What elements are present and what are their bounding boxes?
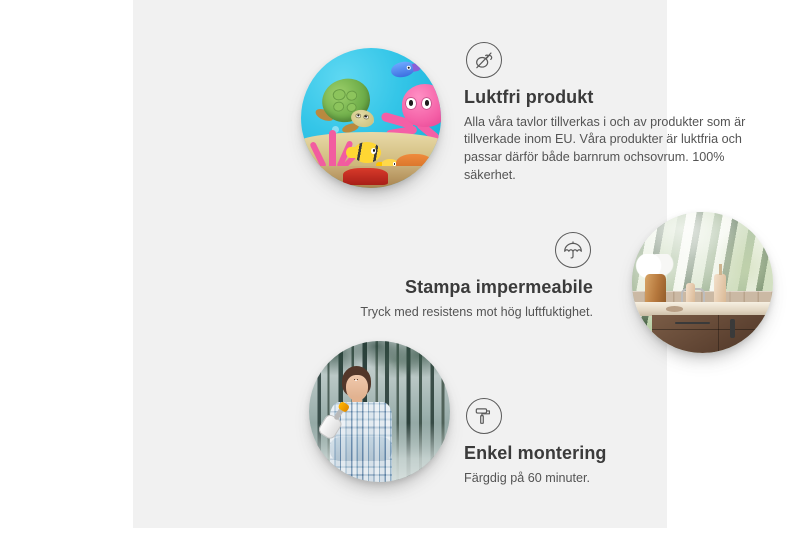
red-foreground-shape [343, 168, 388, 185]
fish-eye [406, 65, 411, 70]
icon-row [329, 232, 591, 268]
screenshot-canvas: Luktfri produkt Alla våra tavlor tillver… [0, 0, 800, 533]
striped-yellow-fish [353, 142, 381, 163]
octopus-head [402, 84, 441, 126]
feature-body: Tryck med resistens mot hög luftfuktighe… [329, 304, 593, 322]
fish-tail [346, 147, 356, 158]
feature-body: Färgdig på 60 minuter. [464, 470, 714, 488]
content-panel: Luktfri produkt Alla våra tavlor tillver… [133, 0, 667, 528]
eye [357, 379, 358, 380]
forest-scene [309, 341, 450, 482]
feature-body: Alla våra tavlor tillverkas i och av pro… [464, 114, 754, 186]
woman-figure [323, 366, 396, 482]
fish-eye [371, 148, 376, 153]
feature-waterproof: Stampa impermeabile Tryck med resistens … [329, 232, 593, 321]
fish-body [353, 142, 381, 163]
no-odor-icon [466, 42, 502, 78]
turtle-eye [355, 113, 362, 119]
underwater-scene [301, 48, 441, 188]
vanity-cabinet [652, 315, 773, 353]
bathroom-wallpaper-photo [632, 212, 773, 353]
bottle [714, 274, 727, 305]
paint-roller-icon [466, 398, 502, 434]
bathroom-scene [632, 212, 773, 353]
feature-assembly: Enkel montering Färgdig på 60 minuter. [464, 398, 714, 487]
feature-odorless: Luktfri produkt Alla våra tavlor tillver… [464, 42, 754, 185]
feature-title: Enkel montering [464, 443, 714, 465]
woman-paint-roller-photo [309, 341, 450, 482]
soap-dish [666, 306, 683, 312]
octopus-eye [421, 97, 432, 110]
turtle-eye [363, 114, 370, 120]
octopus-eye [405, 97, 416, 110]
umbrella-icon [555, 232, 591, 268]
feature-title: Stampa impermeabile [329, 277, 593, 299]
underwater-cartoon-photo [301, 48, 441, 188]
feature-title: Luktfri produkt [464, 87, 754, 109]
smile [355, 380, 357, 381]
door-handle [730, 319, 734, 338]
drawer-handle [675, 322, 711, 324]
